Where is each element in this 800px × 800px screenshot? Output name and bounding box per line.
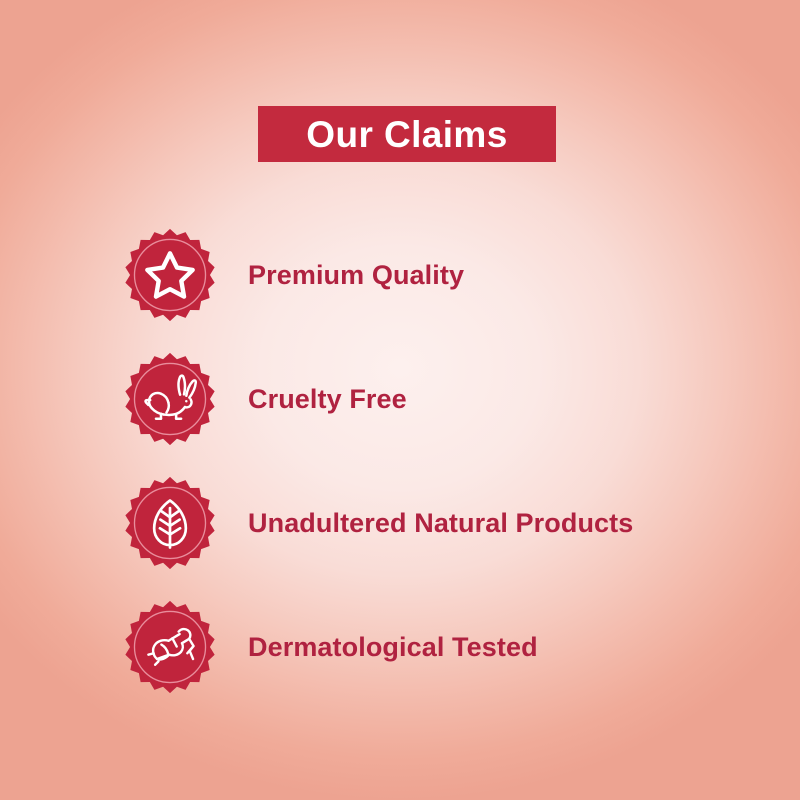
claim-item-cruelty-free: Cruelty Free <box>0 337 800 461</box>
claim-label-dermatological-tested: Dermatological Tested <box>248 632 538 663</box>
claim-item-premium-quality: Premium Quality <box>0 213 800 337</box>
badge-premium-quality <box>122 227 218 323</box>
claim-label-natural-products: Unadultered Natural Products <box>248 508 633 539</box>
page-title: Our Claims <box>306 116 507 153</box>
claims-list: Premium Quality <box>0 213 800 709</box>
star-icon-rosette-shape <box>125 229 214 321</box>
claim-item-dermatological-tested: Dermatological Tested <box>0 585 800 709</box>
badge-cruelty-free <box>122 351 218 447</box>
rabbit-icon-rosette-shape <box>125 353 214 445</box>
badge-dermatological-tested <box>122 599 218 695</box>
claim-label-cruelty-free: Cruelty Free <box>248 384 407 415</box>
claim-item-natural-products: Unadultered Natural Products <box>0 461 800 585</box>
claims-infographic: Our Claims Premium Quality <box>0 0 800 800</box>
badge-natural-products <box>122 475 218 571</box>
page-title-banner: Our Claims <box>258 106 556 162</box>
claim-label-premium-quality: Premium Quality <box>248 260 464 291</box>
hand-dropper-icon-rosette-shape <box>125 601 214 693</box>
